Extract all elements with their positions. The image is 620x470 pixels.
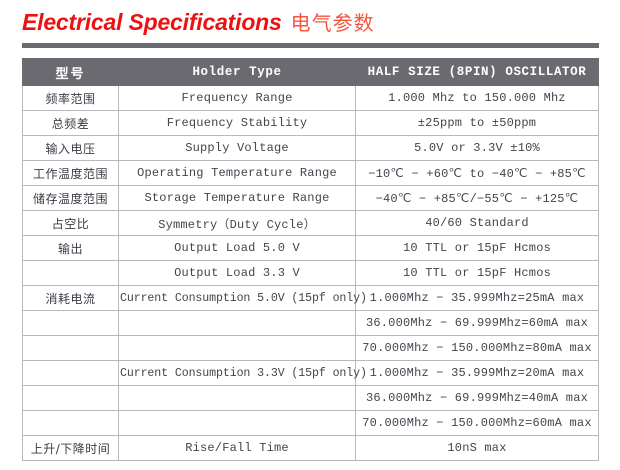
cell-empty [23, 336, 119, 361]
table-row: 上升/下降时间Rise/Fall Time10nS max [23, 436, 599, 461]
cell-parameter-en: Current Consumption 5.0V (15pf only) [119, 286, 356, 311]
table-row: 输出Output Load 5.0 V10 TTL or 15pF Hcmos [23, 236, 599, 261]
cell-value: 70.000Mhz − 150.000Mhz=60mA max [356, 411, 599, 436]
cell-value: 1.000Mhz − 35.999Mhz=20mA max [356, 361, 599, 386]
title-chinese: 电气参数 [291, 11, 375, 35]
column-header-model: 型号 [23, 59, 119, 86]
cell-parameter-en: Symmetry（Duty Cycle） [119, 211, 356, 236]
table-row: 70.000Mhz − 150.000Mhz=60mA max [23, 411, 599, 436]
cell-parameter-en: Current Consumption 3.3V (15pf only) [119, 361, 356, 386]
cell-value: 1.000Mhz − 35.999Mhz=25mA max [356, 286, 599, 311]
cell-parameter-en: Frequency Range [119, 86, 356, 111]
column-header-oscillator: HALF SIZE (8PIN) OSCILLATOR [356, 59, 599, 86]
cell-empty [23, 261, 119, 286]
cell-parameter-cn: 工作温度范围 [23, 161, 119, 186]
cell-parameter-cn: 消耗电流 [23, 286, 119, 311]
title-english: Electrical Specifications [22, 9, 282, 35]
cell-empty [23, 411, 119, 436]
table-row: 占空比Symmetry（Duty Cycle）40/60 Standard [23, 211, 599, 236]
cell-empty [119, 411, 356, 436]
cell-value: 10 TTL or 15pF Hcmos [356, 236, 599, 261]
title-line: Electrical Specifications电气参数 [22, 11, 598, 34]
table-row: 频率范围Frequency Range1.000 Mhz to 150.000 … [23, 86, 599, 111]
cell-parameter-en: Frequency Stability [119, 111, 356, 136]
electrical-specifications-table: 型号 Holder Type HALF SIZE (8PIN) OSCILLAT… [22, 58, 599, 461]
cell-parameter-cn: 频率范围 [23, 86, 119, 111]
cell-value: 36.000Mhz − 69.999Mhz=60mA max [356, 311, 599, 336]
cell-value: 70.000Mhz − 150.000Mhz=80mA max [356, 336, 599, 361]
specification-page: Electrical Specifications电气参数 型号 Holder … [0, 0, 620, 470]
cell-parameter-cn: 输出 [23, 236, 119, 261]
cell-empty [23, 311, 119, 336]
cell-empty [23, 361, 119, 386]
cell-value: ±25ppm to ±50ppm [356, 111, 599, 136]
table-row: 36.000Mhz − 69.999Mhz=40mA max [23, 386, 599, 411]
cell-value: 36.000Mhz − 69.999Mhz=40mA max [356, 386, 599, 411]
cell-value: 1.000 Mhz to 150.000 Mhz [356, 86, 599, 111]
cell-empty [119, 336, 356, 361]
table-row: 36.000Mhz − 69.999Mhz=60mA max [23, 311, 599, 336]
cell-parameter-en: Storage Temperature Range [119, 186, 356, 211]
cell-value: −10℃ − +60℃ to −40℃ − +85℃ [356, 161, 599, 186]
cell-value: 5.0V or 3.3V ±10% [356, 136, 599, 161]
cell-empty [23, 386, 119, 411]
cell-parameter-en: Supply Voltage [119, 136, 356, 161]
page-title: Electrical Specifications电气参数 [22, 11, 598, 34]
cell-empty [119, 311, 356, 336]
cell-parameter-en: Operating Temperature Range [119, 161, 356, 186]
table-body: 频率范围Frequency Range1.000 Mhz to 150.000 … [23, 86, 599, 461]
table-row: 输入电压Supply Voltage5.0V or 3.3V ±10% [23, 136, 599, 161]
table-row: Current Consumption 3.3V (15pf only)1.00… [23, 361, 599, 386]
cell-parameter-cn: 总频差 [23, 111, 119, 136]
cell-value: 10 TTL or 15pF Hcmos [356, 261, 599, 286]
table-row: 储存温度范围Storage Temperature Range−40℃ − +8… [23, 186, 599, 211]
cell-parameter-cn: 占空比 [23, 211, 119, 236]
cell-empty [119, 386, 356, 411]
table-row: 消耗电流Current Consumption 5.0V (15pf only)… [23, 286, 599, 311]
table-row: 工作温度范围Operating Temperature Range−10℃ − … [23, 161, 599, 186]
table-row: Output Load 3.3 V10 TTL or 15pF Hcmos [23, 261, 599, 286]
table-row: 70.000Mhz − 150.000Mhz=80mA max [23, 336, 599, 361]
cell-parameter-en: Output Load 5.0 V [119, 236, 356, 261]
table-header-row: 型号 Holder Type HALF SIZE (8PIN) OSCILLAT… [23, 59, 599, 86]
cell-parameter-cn: 储存温度范围 [23, 186, 119, 211]
cell-value: 40/60 Standard [356, 211, 599, 236]
cell-parameter-en: Output Load 3.3 V [119, 261, 356, 286]
cell-value: −40℃ − +85℃/−55℃ − +125℃ [356, 186, 599, 211]
cell-value: 10nS max [356, 436, 599, 461]
cell-parameter-cn: 上升/下降时间 [23, 436, 119, 461]
column-header-holder-type: Holder Type [119, 59, 356, 86]
table-row: 总频差Frequency Stability±25ppm to ±50ppm [23, 111, 599, 136]
title-divider-rule [22, 43, 599, 48]
cell-parameter-cn: 输入电压 [23, 136, 119, 161]
cell-parameter-en: Rise/Fall Time [119, 436, 356, 461]
